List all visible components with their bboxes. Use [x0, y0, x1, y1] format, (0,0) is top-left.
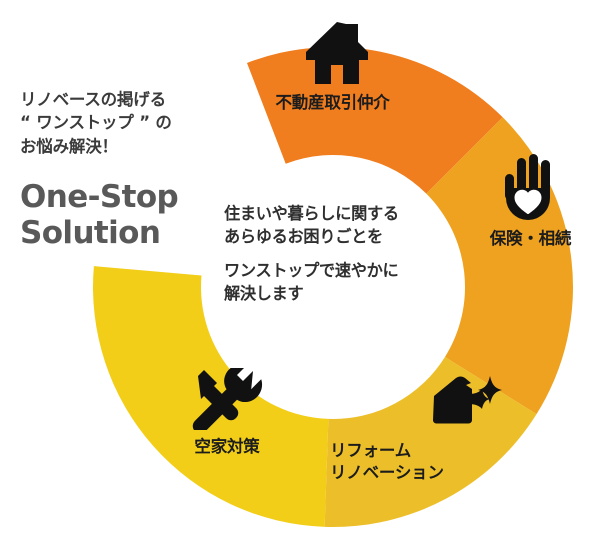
center-paragraph-gap	[224, 249, 449, 259]
sparkle-house-icon	[426, 372, 504, 434]
hammer-wrench-icon	[188, 368, 266, 430]
segment-item-reform[interactable]: リフォーム リノベーション	[330, 372, 505, 485]
center-line-2: あらゆるお困りごとを	[224, 225, 449, 248]
center-line-3: ワンストップで速やかに	[224, 259, 449, 282]
house-icon	[296, 22, 370, 86]
hand-heart-icon	[501, 152, 561, 222]
left-headline-block: リノベースの掲げる “ ワンストップ ” の お悩み解決！ One-Stop S…	[20, 88, 235, 251]
page-title: One-Stop Solution	[20, 180, 235, 251]
segment-label-reform-line-2: リノベーション	[330, 462, 505, 484]
segment-label-realestate: 不動産取引仲介	[230, 92, 435, 114]
center-line-1: 住まいや暮らしに関する	[224, 202, 449, 225]
center-description-block: 住まいや暮らしに関する あらゆるお困りごとを ワンストップで速やかに 解決します	[224, 202, 449, 306]
segment-label-reform-line-1: リフォーム	[330, 440, 505, 462]
segment-item-insurance[interactable]: 保険・相続	[468, 152, 593, 250]
segment-item-realestate[interactable]: 不動産取引仲介	[230, 22, 435, 114]
segment-label-vacant: 空家対策	[152, 436, 302, 458]
lead-line-1: リノベースの掲げる	[20, 88, 235, 111]
brand-line-2: Solution	[20, 216, 235, 251]
center-line-4: 解決します	[224, 282, 449, 305]
segment-item-vacant[interactable]: 空家対策	[152, 368, 302, 458]
segment-label-insurance: 保険・相続	[468, 228, 593, 250]
brand-line-1: One-Stop	[20, 180, 235, 215]
lead-line-3: お悩み解決！	[20, 135, 235, 158]
infographic-canvas: リノベースの掲げる “ ワンストップ ” の お悩み解決！ One-Stop S…	[0, 0, 600, 533]
lead-line-2: “ ワンストップ ” の	[20, 111, 235, 134]
